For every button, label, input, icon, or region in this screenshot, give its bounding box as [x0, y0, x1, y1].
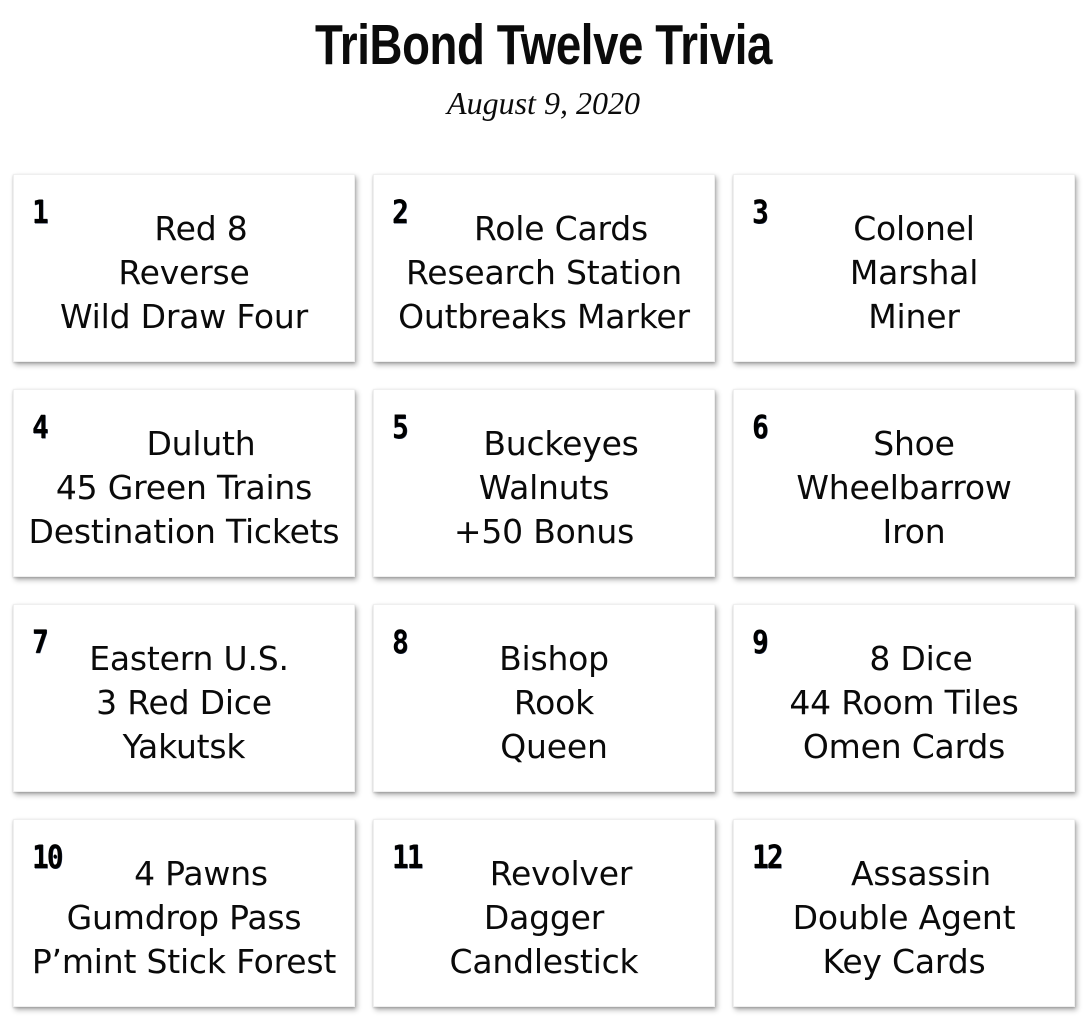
card-clue: Rook: [382, 681, 706, 725]
card-clue-list: Eastern U.S. 3 Red Dice Yakutsk: [14, 637, 354, 769]
card-clue: Red 8: [22, 207, 346, 251]
card-clue: Queen: [382, 725, 706, 769]
card-clue-list: Colonel Marshal Miner: [734, 207, 1074, 339]
card-clue-list: Role Cards Research Station Outbreaks Ma…: [374, 207, 714, 339]
card-clue: Assassin: [742, 852, 1066, 896]
card-clue: 45 Green Trains: [22, 466, 346, 510]
card-clue-list: Shoe Wheelbarrow Iron: [734, 422, 1074, 554]
card-clue-list: Red 8 Reverse Wild Draw Four: [14, 207, 354, 339]
trivia-card[interactable]: 9 8 Dice 44 Room Tiles Omen Cards: [733, 604, 1075, 792]
trivia-card[interactable]: 2 Role Cards Research Station Outbreaks …: [373, 174, 715, 362]
card-clue: Duluth: [22, 422, 346, 466]
card-clue: Reverse: [22, 251, 346, 295]
card-clue-list: 4 Pawns Gumdrop Pass P’mint Stick Forest: [14, 852, 354, 984]
card-clue: Bishop: [382, 637, 706, 681]
card-clue: 3 Red Dice: [22, 681, 346, 725]
card-clue: Role Cards: [382, 207, 706, 251]
trivia-card[interactable]: 11 Revolver Dagger Candlestick: [373, 819, 715, 1007]
card-clue: 4 Pawns: [22, 852, 346, 896]
card-clue: Dagger: [382, 896, 706, 940]
card-clue: Walnuts: [382, 466, 706, 510]
trivia-card[interactable]: 7 Eastern U.S. 3 Red Dice Yakutsk: [13, 604, 355, 792]
card-clue: Iron: [742, 510, 1066, 554]
card-clue-list: Duluth 45 Green Trains Destination Ticke…: [14, 422, 354, 554]
card-clue: Buckeyes: [382, 422, 706, 466]
card-clue: Wild Draw Four: [22, 295, 346, 339]
card-clue: Miner: [742, 295, 1066, 339]
card-clue: Revolver: [382, 852, 706, 896]
trivia-card[interactable]: 3 Colonel Marshal Miner: [733, 174, 1075, 362]
trivia-card[interactable]: 8 Bishop Rook Queen: [373, 604, 715, 792]
trivia-card[interactable]: 12 Assassin Double Agent Key Cards: [733, 819, 1075, 1007]
card-clue-list: Revolver Dagger Candlestick: [374, 852, 714, 984]
card-clue: Outbreaks Marker: [382, 295, 706, 339]
trivia-card[interactable]: 6 Shoe Wheelbarrow Iron: [733, 389, 1075, 577]
page-title: TriBond Twelve Trivia: [109, 14, 979, 76]
card-clue: Colonel: [742, 207, 1066, 251]
trivia-card[interactable]: 5 Buckeyes Walnuts +50 Bonus: [373, 389, 715, 577]
card-clue: Omen Cards: [742, 725, 1066, 769]
card-clue: Double Agent: [742, 896, 1066, 940]
trivia-card[interactable]: 4 Duluth 45 Green Trains Destination Tic…: [13, 389, 355, 577]
card-clue: 8 Dice: [742, 637, 1066, 681]
card-clue: +50 Bonus: [382, 510, 706, 554]
card-clue-list: Buckeyes Walnuts +50 Bonus: [374, 422, 714, 554]
page-date: August 9, 2020: [0, 84, 1087, 122]
page-header: TriBond Twelve Trivia August 9, 2020: [0, 0, 1087, 122]
card-clue: Wheelbarrow: [742, 466, 1066, 510]
card-clue: Eastern U.S.: [22, 637, 346, 681]
card-clue: 44 Room Tiles: [742, 681, 1066, 725]
card-clue: Shoe: [742, 422, 1066, 466]
card-clue: Yakutsk: [22, 725, 346, 769]
card-clue: Marshal: [742, 251, 1066, 295]
card-clue: P’mint Stick Forest: [22, 940, 346, 984]
trivia-card[interactable]: 10 4 Pawns Gumdrop Pass P’mint Stick For…: [13, 819, 355, 1007]
card-clue-list: 8 Dice 44 Room Tiles Omen Cards: [734, 637, 1074, 769]
card-clue-list: Bishop Rook Queen: [374, 637, 714, 769]
card-clue: Research Station: [382, 251, 706, 295]
trivia-card-grid: 1 Red 8 Reverse Wild Draw Four 2 Role Ca…: [13, 174, 1074, 1007]
card-clue: Gumdrop Pass: [22, 896, 346, 940]
trivia-card[interactable]: 1 Red 8 Reverse Wild Draw Four: [13, 174, 355, 362]
card-clue: Destination Tickets: [22, 510, 346, 554]
card-clue: Key Cards: [742, 940, 1066, 984]
card-clue-list: Assassin Double Agent Key Cards: [734, 852, 1074, 984]
card-clue: Candlestick: [382, 940, 706, 984]
